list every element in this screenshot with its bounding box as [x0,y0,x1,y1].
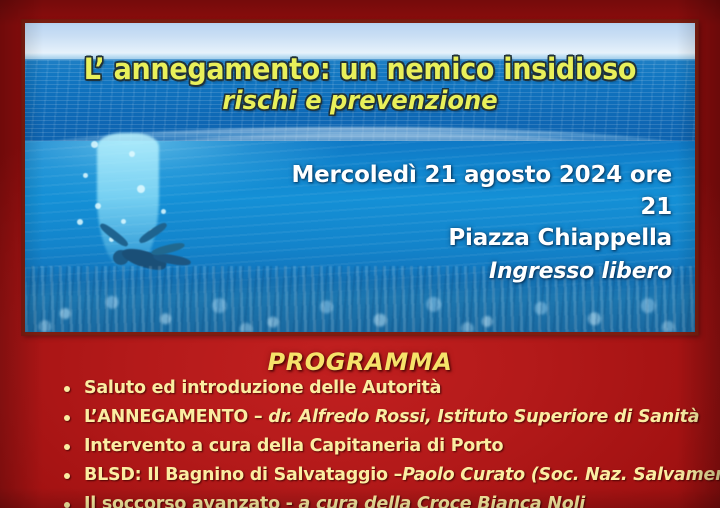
list-item: L’ANNEGAMENTO – dr. Alfredo Rossi, Istit… [62,407,706,427]
bubble-icon [83,173,88,178]
list-item: Il soccorso avanzato - a cura della Croc… [62,494,706,508]
programma-list: Saluto ed introduzione delle AutoritàL’A… [62,378,706,508]
event-date: Mercoledì 21 agosto 2024 ore 21 [272,160,672,223]
poster-root: L’ annegamento: un nemico insidioso risc… [0,0,720,508]
bubble-icon [91,141,98,148]
list-item-speaker: dr. Alfredo Rossi, Istituto Superiore di… [268,407,699,427]
bubble-icon [77,219,83,225]
list-item-speaker: a cura della Croce Bianca Noli [299,494,585,508]
list-item: BLSD: Il Bagnino di Salvataggio –Paolo C… [62,465,706,485]
list-item-label: Il soccorso avanzato - [84,494,299,508]
list-item-speaker: Paolo Curato (Soc. Naz. Salvamento) [402,465,720,485]
bubble-icon [129,151,135,157]
list-item-label: L’ANNEGAMENTO – [84,407,268,427]
event-location: Piazza Chiappella [272,223,672,255]
list-item: Saluto ed introduzione delle Autorità [62,378,706,398]
event-details: Mercoledì 21 agosto 2024 ore 21 Piazza C… [272,160,672,288]
bubble-icon [137,185,145,193]
bubble-icon [161,209,166,214]
list-item-label: Saluto ed introduzione delle Autorità [84,378,441,398]
bubble-icon [95,203,101,209]
programma-heading: PROGRAMMA [0,348,720,376]
list-item: Intervento a cura della Capitaneria di P… [62,436,706,456]
list-item-label: BLSD: Il Bagnino di Salvataggio – [84,465,402,485]
list-item-label: Intervento a cura della Capitaneria di P… [84,436,503,456]
bubble-icon [121,219,126,224]
event-admission: Ingresso libero [272,255,672,288]
